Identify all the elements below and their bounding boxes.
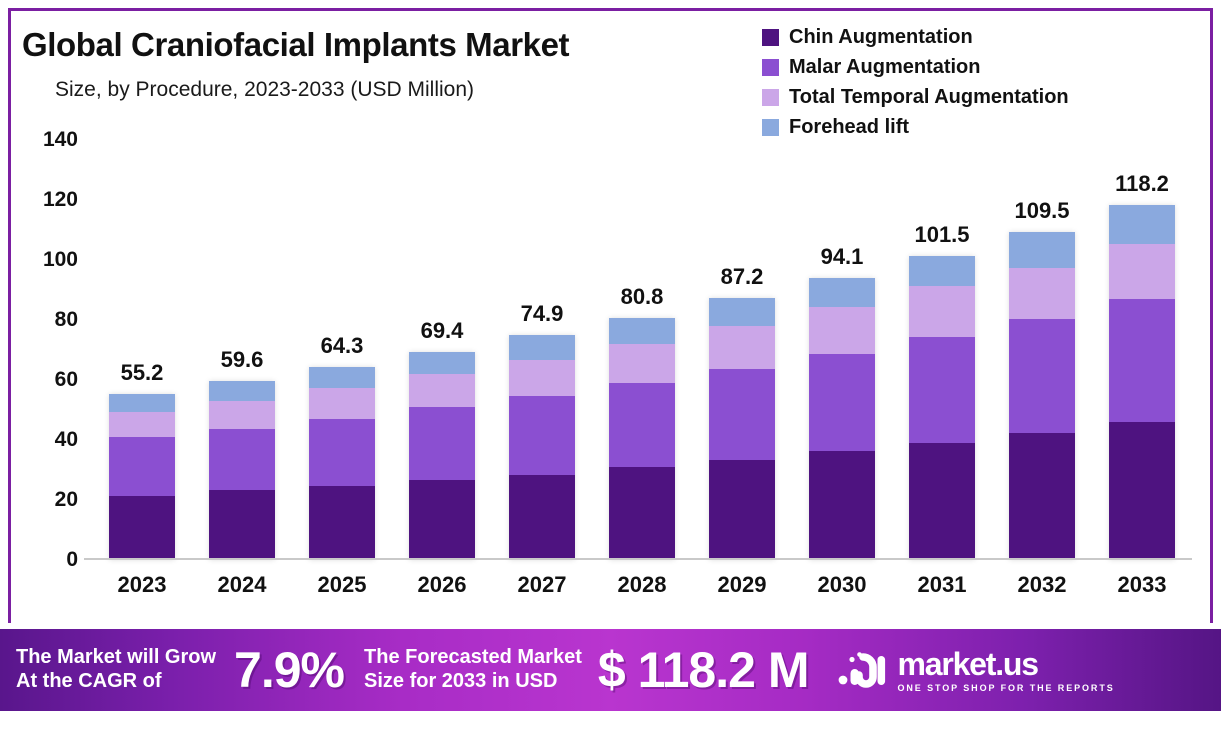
stacked-bar[interactable] <box>509 335 575 560</box>
legend-item[interactable]: Total Temporal Augmentation <box>762 82 1069 112</box>
bar-segment[interactable] <box>609 383 675 467</box>
bar-segment[interactable] <box>1009 232 1075 268</box>
legend-swatch-icon <box>762 29 779 46</box>
logo-tagline: ONE STOP SHOP FOR THE REPORTS <box>897 683 1114 693</box>
legend-item[interactable]: Malar Augmentation <box>762 52 1069 82</box>
chart-legend: Chin AugmentationMalar AugmentationTotal… <box>762 22 1069 142</box>
bar-segment[interactable] <box>709 460 775 561</box>
legend-label: Malar Augmentation <box>789 56 981 79</box>
bar-segment[interactable] <box>109 437 175 496</box>
bar-segment[interactable] <box>109 496 175 560</box>
bar-total-label: 59.6 <box>192 347 292 373</box>
chart-subtitle: Size, by Procedure, 2023-2033 (USD Milli… <box>55 78 474 102</box>
bar-segment[interactable] <box>1109 205 1175 244</box>
bar-segment[interactable] <box>609 467 675 560</box>
bar-segment[interactable] <box>909 443 975 560</box>
logo-wordmark: market.us <box>897 648 1114 680</box>
bar-segment[interactable] <box>309 367 375 388</box>
legend-swatch-icon <box>762 119 779 136</box>
bar-segment[interactable] <box>1109 244 1175 299</box>
bar-segment[interactable] <box>909 337 975 444</box>
bar-segment[interactable] <box>409 352 475 374</box>
bar-total-label: 64.3 <box>292 333 392 359</box>
bar-segment[interactable] <box>409 480 475 560</box>
bar-segment[interactable] <box>709 326 775 369</box>
bar-total-label: 118.2 <box>1092 171 1192 197</box>
bar-slot: 80.8 <box>592 140 692 560</box>
stacked-bar[interactable] <box>809 278 875 560</box>
bar-segment[interactable] <box>909 256 975 287</box>
plot-area: 020406080100120140 55.259.664.369.474.98… <box>92 140 1192 560</box>
footer-banner: The Market will Grow At the CAGR of 7.9%… <box>0 629 1221 711</box>
bar-slot: 118.2 <box>1092 140 1192 560</box>
x-axis-labels: 2023202420252026202720282029203020312032… <box>92 572 1192 598</box>
bar-segment[interactable] <box>109 394 175 412</box>
x-axis-label: 2033 <box>1092 572 1192 598</box>
bar-slot: 59.6 <box>192 140 292 560</box>
x-axis-label: 2023 <box>92 572 192 598</box>
stacked-bar[interactable] <box>309 367 375 560</box>
cagr-value: 7.9% <box>234 641 344 699</box>
bar-segment[interactable] <box>709 298 775 326</box>
legend-label: Total Temporal Augmentation <box>789 86 1069 109</box>
bar-slot: 64.3 <box>292 140 392 560</box>
bar-slot: 69.4 <box>392 140 492 560</box>
bar-segment[interactable] <box>1009 268 1075 320</box>
legend-item[interactable]: Chin Augmentation <box>762 22 1069 52</box>
x-axis-label: 2027 <box>492 572 592 598</box>
stacked-bar[interactable] <box>209 381 275 560</box>
market-us-logo-icon <box>836 649 888 691</box>
bar-segment[interactable] <box>509 360 575 396</box>
chart-title: Global Craniofacial Implants Market <box>22 26 569 64</box>
y-axis-tick-label: 0 <box>18 548 78 572</box>
legend-label: Chin Augmentation <box>789 26 973 49</box>
bar-segment[interactable] <box>409 374 475 407</box>
forecast-value: $ 118.2 M <box>598 641 809 699</box>
cagr-label-line2: At the CAGR of <box>16 670 216 694</box>
x-axis-label: 2032 <box>992 572 1092 598</box>
y-axis-tick-label: 20 <box>18 488 78 512</box>
legend-item[interactable]: Forehead lift <box>762 112 1069 142</box>
y-axis-tick-label: 60 <box>18 368 78 392</box>
bar-segment[interactable] <box>409 407 475 480</box>
bar-segment[interactable] <box>609 318 675 344</box>
bar-segment[interactable] <box>909 286 975 336</box>
stacked-bar[interactable] <box>109 394 175 560</box>
bar-segment[interactable] <box>109 412 175 436</box>
bar-segment[interactable] <box>809 307 875 354</box>
bar-segment[interactable] <box>809 278 875 307</box>
bar-slot: 109.5 <box>992 140 1092 560</box>
bar-segment[interactable] <box>809 354 875 452</box>
y-axis-tick-label: 40 <box>18 428 78 452</box>
bar-slot: 74.9 <box>492 140 592 560</box>
x-axis-label: 2031 <box>892 572 992 598</box>
bar-segment[interactable] <box>209 429 275 491</box>
bar-segment[interactable] <box>209 381 275 401</box>
bar-slot: 94.1 <box>792 140 892 560</box>
bar-total-label: 69.4 <box>392 318 492 344</box>
bar-total-label: 87.2 <box>692 264 792 290</box>
forecast-label-line1: The Forecasted Market <box>364 646 582 670</box>
stacked-bar[interactable] <box>609 318 675 560</box>
market-us-logo-text: market.us ONE STOP SHOP FOR THE REPORTS <box>897 648 1114 693</box>
legend-swatch-icon <box>762 89 779 106</box>
y-axis-tick-label: 100 <box>18 248 78 272</box>
cagr-label: The Market will Grow At the CAGR of <box>16 646 216 693</box>
bar-segment[interactable] <box>309 486 375 560</box>
x-axis-label: 2030 <box>792 572 892 598</box>
bar-segment[interactable] <box>809 451 875 560</box>
legend-swatch-icon <box>762 59 779 76</box>
bar-slot: 101.5 <box>892 140 992 560</box>
bar-segment[interactable] <box>1109 422 1175 560</box>
bar-segment[interactable] <box>209 490 275 560</box>
bar-total-label: 101.5 <box>892 222 992 248</box>
cagr-label-line1: The Market will Grow <box>16 646 216 670</box>
legend-label: Forehead lift <box>789 116 909 139</box>
bar-segment[interactable] <box>709 369 775 460</box>
bar-total-label: 94.1 <box>792 244 892 270</box>
x-axis-label: 2026 <box>392 572 492 598</box>
bar-segment[interactable] <box>1109 299 1175 422</box>
stacked-bar[interactable] <box>709 298 775 560</box>
bar-segment[interactable] <box>1009 433 1075 561</box>
forecast-label-line2: Size for 2033 in USD <box>364 670 582 694</box>
market-us-logo: market.us ONE STOP SHOP FOR THE REPORTS <box>836 648 1114 693</box>
bar-total-label: 109.5 <box>992 198 1092 224</box>
bar-segment[interactable] <box>609 344 675 383</box>
bar-slot: 87.2 <box>692 140 792 560</box>
stacked-bar[interactable] <box>1009 232 1075 560</box>
stacked-bar[interactable] <box>909 256 975 560</box>
y-axis-tick-label: 120 <box>18 188 78 212</box>
bar-segment[interactable] <box>509 475 575 561</box>
bar-slot: 55.2 <box>92 140 192 560</box>
x-axis-label: 2024 <box>192 572 292 598</box>
bar-total-label: 80.8 <box>592 284 692 310</box>
bar-segment[interactable] <box>209 401 275 428</box>
bar-segment[interactable] <box>309 388 375 418</box>
bar-segment[interactable] <box>509 335 575 360</box>
x-axis-line <box>84 558 1192 560</box>
bar-segment[interactable] <box>309 419 375 487</box>
x-axis-label: 2029 <box>692 572 792 598</box>
bar-segment[interactable] <box>1009 319 1075 432</box>
y-axis-tick-label: 140 <box>18 128 78 152</box>
y-axis-tick-label: 80 <box>18 308 78 332</box>
bar-segment[interactable] <box>509 396 575 475</box>
chart-infographic: Global Craniofacial Implants Market Size… <box>0 0 1221 740</box>
stacked-bar[interactable] <box>409 352 475 560</box>
bar-total-label: 74.9 <box>492 301 592 327</box>
bar-group: 55.259.664.369.474.980.887.294.1101.5109… <box>92 140 1192 560</box>
bar-total-label: 55.2 <box>92 360 192 386</box>
stacked-bar[interactable] <box>1109 205 1175 560</box>
x-axis-label: 2025 <box>292 572 392 598</box>
forecast-label: The Forecasted Market Size for 2033 in U… <box>364 646 582 693</box>
x-axis-label: 2028 <box>592 572 692 598</box>
